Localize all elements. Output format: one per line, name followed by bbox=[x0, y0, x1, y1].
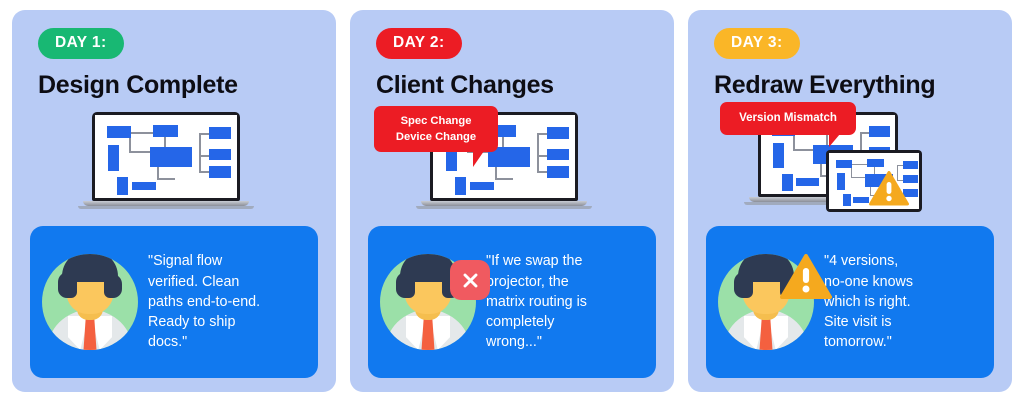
diagram-block bbox=[843, 194, 851, 206]
diagram-block bbox=[209, 149, 231, 160]
laptop-lid bbox=[92, 112, 240, 201]
diagram-wire bbox=[495, 178, 513, 180]
diagram-block bbox=[547, 127, 569, 139]
banner-alert-line: Version Mismatch bbox=[726, 110, 850, 127]
tablet-screen bbox=[829, 153, 919, 209]
banner-alert: Version Mismatch bbox=[720, 102, 856, 135]
diagram-block bbox=[837, 173, 845, 190]
speech-bubble-line: Device Change bbox=[384, 129, 488, 145]
illustration-laptop-tablet-diagram: Version Mismatch bbox=[706, 106, 994, 218]
illustration-laptop-diagram: Spec Change Device Change bbox=[368, 106, 656, 218]
avatar bbox=[380, 254, 476, 350]
speech-bubble-tail bbox=[473, 151, 484, 167]
laptop-screen bbox=[95, 115, 237, 198]
avatar bbox=[718, 254, 814, 350]
diagram-block bbox=[209, 166, 231, 178]
infographic-root: DAY 1: Design Complete bbox=[0, 0, 1024, 406]
diagram-wire bbox=[537, 133, 539, 173]
speech-bubble-alert: Spec Change Device Change bbox=[374, 106, 498, 152]
diagram-wire bbox=[851, 177, 866, 178]
laptop-foot bbox=[416, 206, 592, 209]
diagram-block bbox=[903, 161, 918, 169]
diagram-block bbox=[153, 125, 178, 137]
avatar-hair-side-left bbox=[734, 272, 753, 298]
panel-title: Redraw Everything bbox=[714, 71, 994, 100]
diagram-block bbox=[108, 145, 119, 171]
warning-icon bbox=[780, 254, 832, 300]
quote-text: "If we swap the projector, the matrix ro… bbox=[486, 251, 644, 352]
quote-card: "Signal flow verified. Clean paths end-t… bbox=[30, 226, 318, 378]
day-badge: DAY 2: bbox=[376, 28, 462, 59]
warning-icon bbox=[869, 171, 909, 206]
panel-day-1: DAY 1: Design Complete bbox=[12, 10, 336, 392]
laptop-device bbox=[92, 112, 240, 209]
tablet-device bbox=[826, 150, 922, 212]
diagram-block bbox=[796, 178, 819, 186]
panel-title: Client Changes bbox=[376, 71, 656, 100]
speech-bubble-line: Spec Change bbox=[384, 113, 488, 129]
diagram-block bbox=[836, 160, 852, 168]
laptop-foot bbox=[78, 206, 254, 209]
avatar-circle bbox=[42, 254, 138, 350]
diagram-block bbox=[470, 182, 494, 190]
diagram-block bbox=[117, 177, 128, 195]
quote-card: "4 versions, no-one knows which is right… bbox=[706, 226, 994, 378]
panel-title: Design Complete bbox=[38, 71, 318, 100]
avatar-hair-side-left bbox=[396, 272, 415, 298]
avatar bbox=[42, 254, 138, 350]
diagram-block bbox=[107, 126, 131, 138]
diagram-block bbox=[209, 127, 231, 139]
diagram-wire bbox=[793, 149, 814, 151]
diagram-block bbox=[773, 143, 784, 168]
quote-text: "Signal flow verified. Clean paths end-t… bbox=[148, 251, 306, 352]
avatar-hair-side-right bbox=[104, 274, 122, 298]
diagram-block bbox=[867, 159, 884, 167]
error-x-badge bbox=[450, 260, 490, 300]
day-badge: DAY 1: bbox=[38, 28, 124, 59]
diagram-block bbox=[853, 197, 869, 203]
warning-triangle-badge bbox=[780, 254, 832, 300]
warning-triangle-icon bbox=[869, 171, 909, 206]
diagram-block bbox=[150, 147, 192, 167]
banner-alert-tail bbox=[829, 134, 840, 147]
illustration-laptop-diagram bbox=[30, 106, 318, 218]
avatar-hair-side-left bbox=[58, 272, 77, 298]
diagram-wire bbox=[129, 151, 151, 153]
diagram-wire bbox=[157, 178, 175, 180]
diagram-block bbox=[455, 177, 466, 195]
quote-text: "4 versions, no-one knows which is right… bbox=[824, 251, 982, 352]
diagram-block bbox=[869, 126, 890, 137]
diagram-block bbox=[132, 182, 156, 190]
panel-day-3: DAY 3: Redraw Everything bbox=[688, 10, 1012, 392]
diagram-block bbox=[782, 174, 793, 191]
diagram-wire bbox=[199, 133, 201, 173]
quote-card: "If we swap the projector, the matrix ro… bbox=[368, 226, 656, 378]
diagram-block bbox=[547, 149, 569, 160]
close-icon bbox=[461, 271, 480, 290]
day-badge: DAY 3: bbox=[714, 28, 800, 59]
diagram-block bbox=[547, 166, 569, 178]
panel-day-2: DAY 2: Client Changes bbox=[350, 10, 674, 392]
